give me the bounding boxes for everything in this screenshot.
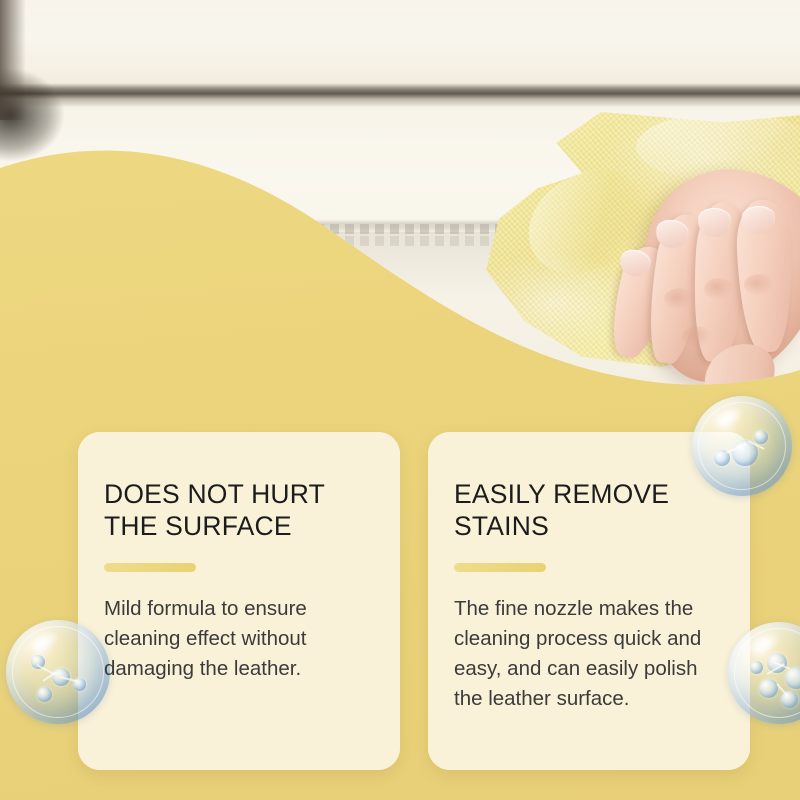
accent-divider-bar — [454, 563, 546, 572]
card-body-text: Mild formula to ensure cleaning effect w… — [104, 594, 374, 684]
molecule-node — [37, 687, 52, 702]
molecule-node — [785, 667, 800, 689]
molecule-node — [759, 679, 778, 698]
card-content: DOES NOT HURT THE SURFACE Mild formula t… — [78, 432, 400, 770]
feature-card-easily-remove-stains[interactable]: EASILY REMOVE STAINS The fine nozzle mak… — [428, 432, 750, 770]
card-title: EASILY REMOVE STAINS — [454, 478, 724, 542]
card-title: DOES NOT HURT THE SURFACE — [104, 478, 374, 542]
molecule-node — [754, 430, 768, 444]
banner-stage: DOES NOT HURT THE SURFACE Mild formula t… — [0, 0, 800, 800]
feature-card-does-not-hurt-the-surface[interactable]: DOES NOT HURT THE SURFACE Mild formula t… — [78, 432, 400, 770]
accent-divider-bar — [104, 563, 196, 572]
card-body-text: The fine nozzle makes the cleaning proce… — [454, 594, 724, 714]
card-content: EASILY REMOVE STAINS The fine nozzle mak… — [428, 432, 750, 770]
feature-cards: DOES NOT HURT THE SURFACE Mild formula t… — [0, 0, 800, 800]
